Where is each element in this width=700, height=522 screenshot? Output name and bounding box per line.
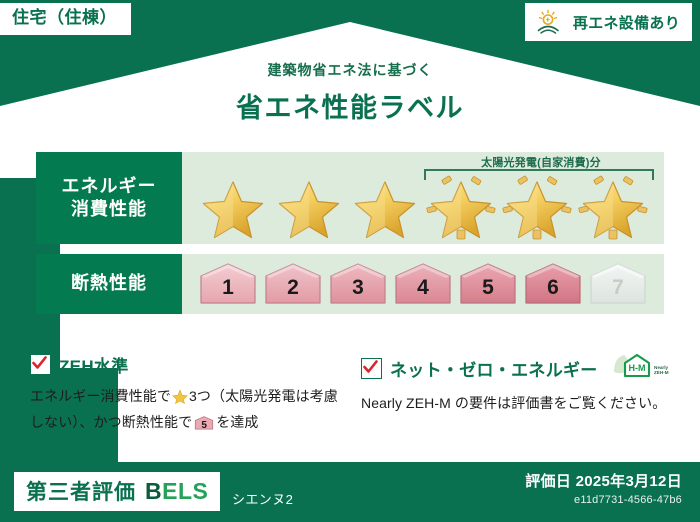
check-icon: [361, 358, 382, 379]
insulation-level-badge-inline: 5: [194, 415, 214, 431]
evaluation-info: 評価日 2025年3月12日 e11d7731-4566-47b6: [525, 470, 682, 506]
zeh-heading: ZEH水準: [30, 352, 339, 377]
energy-label-line1: エネルギー: [62, 175, 157, 198]
bels-certification-chip: 第三者評価 BELS: [14, 472, 220, 511]
insulation-level-badge: 3: [327, 261, 389, 307]
insulation-level-scale: 1 2 3: [182, 254, 664, 314]
zehm-logo-main: H-M: [628, 363, 645, 373]
zeh-text-part1: エネルギー消費性能で: [30, 388, 171, 404]
star-icon-solar: [576, 168, 650, 240]
netzero-heading: ネット・ゼロ・エネルギー H-M Nearly ZEH-M: [361, 352, 670, 384]
insulation-level-badge: 5: [457, 261, 519, 307]
title-block: 建築物省エネ法に基づく 省エネ性能ラベル: [0, 60, 700, 125]
title-subtitle: 建築物省エネ法に基づく: [0, 60, 700, 80]
renewable-badge-label: 再エネ設備あり: [573, 12, 680, 33]
insulation-level-number: 6: [522, 276, 584, 300]
insulation-level-badge: 4: [392, 261, 454, 307]
bels-energy-label: 住宅（住棟） 再エネ設備あり 建築物省エネ法に基づく 省エネ性能ラベル: [0, 0, 700, 522]
insulation-row-body: 1 2 3: [182, 254, 664, 314]
evaluation-id: e11d7731-4566-47b6: [525, 494, 682, 506]
insulation-level-number: 2: [262, 276, 324, 300]
zeh-description: エネルギー消費性能で3つ（太陽光発電は考慮しない）、かつ断熱性能で5を達成: [30, 385, 339, 433]
net-zero-energy-section: ネット・ゼロ・エネルギー H-M Nearly ZEH-M Nearly ZEH…: [361, 352, 670, 433]
renewable-equipment-badge: 再エネ設備あり: [525, 3, 692, 41]
evaluation-date: 評価日 2025年3月12日: [525, 470, 682, 491]
energy-label-line2: 消費性能: [71, 198, 147, 221]
solar-sun-icon: [535, 9, 565, 35]
star-icon-solar: [500, 168, 574, 240]
nearly-zeh-m-logo: H-M Nearly ZEH-M: [612, 352, 670, 384]
bels-letters-els: ELS: [162, 478, 208, 504]
star-icon: [172, 388, 188, 411]
star-icon: [272, 168, 346, 240]
star-rating: [182, 168, 664, 242]
star-icon: [196, 168, 270, 240]
energy-row-label: エネルギー 消費性能: [36, 152, 182, 244]
performance-rows: エネルギー 消費性能 太陽光発電(自家消費)分: [36, 152, 664, 324]
category-chip: 住宅（住棟）: [0, 3, 131, 35]
footer: 第三者評価 BELS シエンヌ2 評価日 2025年3月12日 e11d7731…: [0, 462, 700, 522]
insulation-level-badge-inactive: 7: [587, 261, 649, 307]
star-icon: [348, 168, 422, 240]
insulation-performance-row: 断熱性能: [36, 254, 664, 314]
zeh-standard-section: ZEH水準 エネルギー消費性能で3つ（太陽光発電は考慮しない）、かつ断熱性能で5…: [30, 352, 339, 433]
zeh-text-part3: を達成: [216, 414, 258, 430]
insulation-level-number: 1: [197, 276, 259, 300]
netzero-title: ネット・ゼロ・エネルギー: [390, 356, 598, 381]
insulation-level-badge: 2: [262, 261, 324, 307]
info-columns: ZEH水準 エネルギー消費性能で3つ（太陽光発電は考慮しない）、かつ断熱性能で5…: [30, 352, 670, 433]
insulation-level-number: 4: [392, 276, 454, 300]
insulation-row-label: 断熱性能: [36, 254, 182, 314]
bels-en-logo: BELS: [145, 478, 208, 505]
bels-jp-label: 第三者評価: [26, 476, 136, 506]
check-icon: [30, 354, 51, 375]
star-icon-solar: [424, 168, 498, 240]
insulation-level-badge: 6: [522, 261, 584, 307]
insulation-level-badge: 1: [197, 261, 259, 307]
title-main: 省エネ性能ラベル: [0, 86, 700, 125]
energy-row-body: 太陽光発電(自家消費)分: [182, 152, 664, 244]
insulation-level-number: 3: [327, 276, 389, 300]
property-name: シエンヌ2: [232, 489, 293, 508]
energy-performance-row: エネルギー 消費性能 太陽光発電(自家消費)分: [36, 152, 664, 244]
zehm-logo-sub2: ZEH-M: [654, 370, 669, 375]
inline-level-number: 5: [194, 418, 214, 434]
netzero-description: Nearly ZEH-M の要件は評価書をご覧ください。: [361, 392, 670, 415]
insulation-level-number: 5: [457, 276, 519, 300]
insulation-level-number: 7: [587, 276, 649, 300]
zeh-title: ZEH水準: [59, 352, 129, 377]
bels-letter-b: B: [145, 478, 162, 504]
